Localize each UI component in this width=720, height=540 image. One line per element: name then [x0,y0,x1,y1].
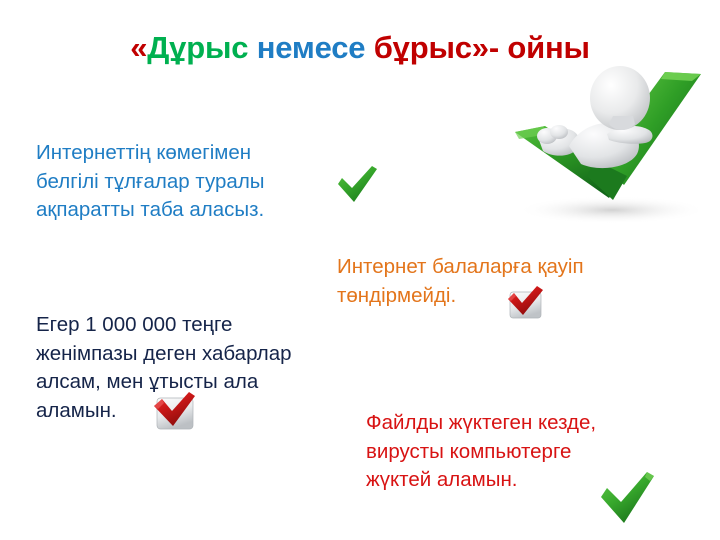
statement-2-text: Интернет балаларға қауіп төндірмейді. [337,253,637,310]
green-check-icon [596,469,658,531]
slide-canvas: «Дұрыс немесе бұрыс»- ойны [0,0,720,540]
green-check-icon [334,164,380,210]
title-quote-open: « [130,30,147,65]
title-space-1 [248,30,256,65]
red-check-button-icon [506,286,544,320]
statement-3-text: Егер 1 000 000 теңге женімпазы деген хаб… [36,311,366,425]
title-space-2 [365,30,373,65]
title-word-blue: немесе [257,30,366,65]
title-word-green: Дұрыс [147,30,248,65]
red-check-button-icon [152,391,197,432]
statement-1-text: Интернеттің көмегімен белгілі тұлғалар т… [36,139,336,225]
3d-person-on-green-check-illustration [487,50,720,240]
